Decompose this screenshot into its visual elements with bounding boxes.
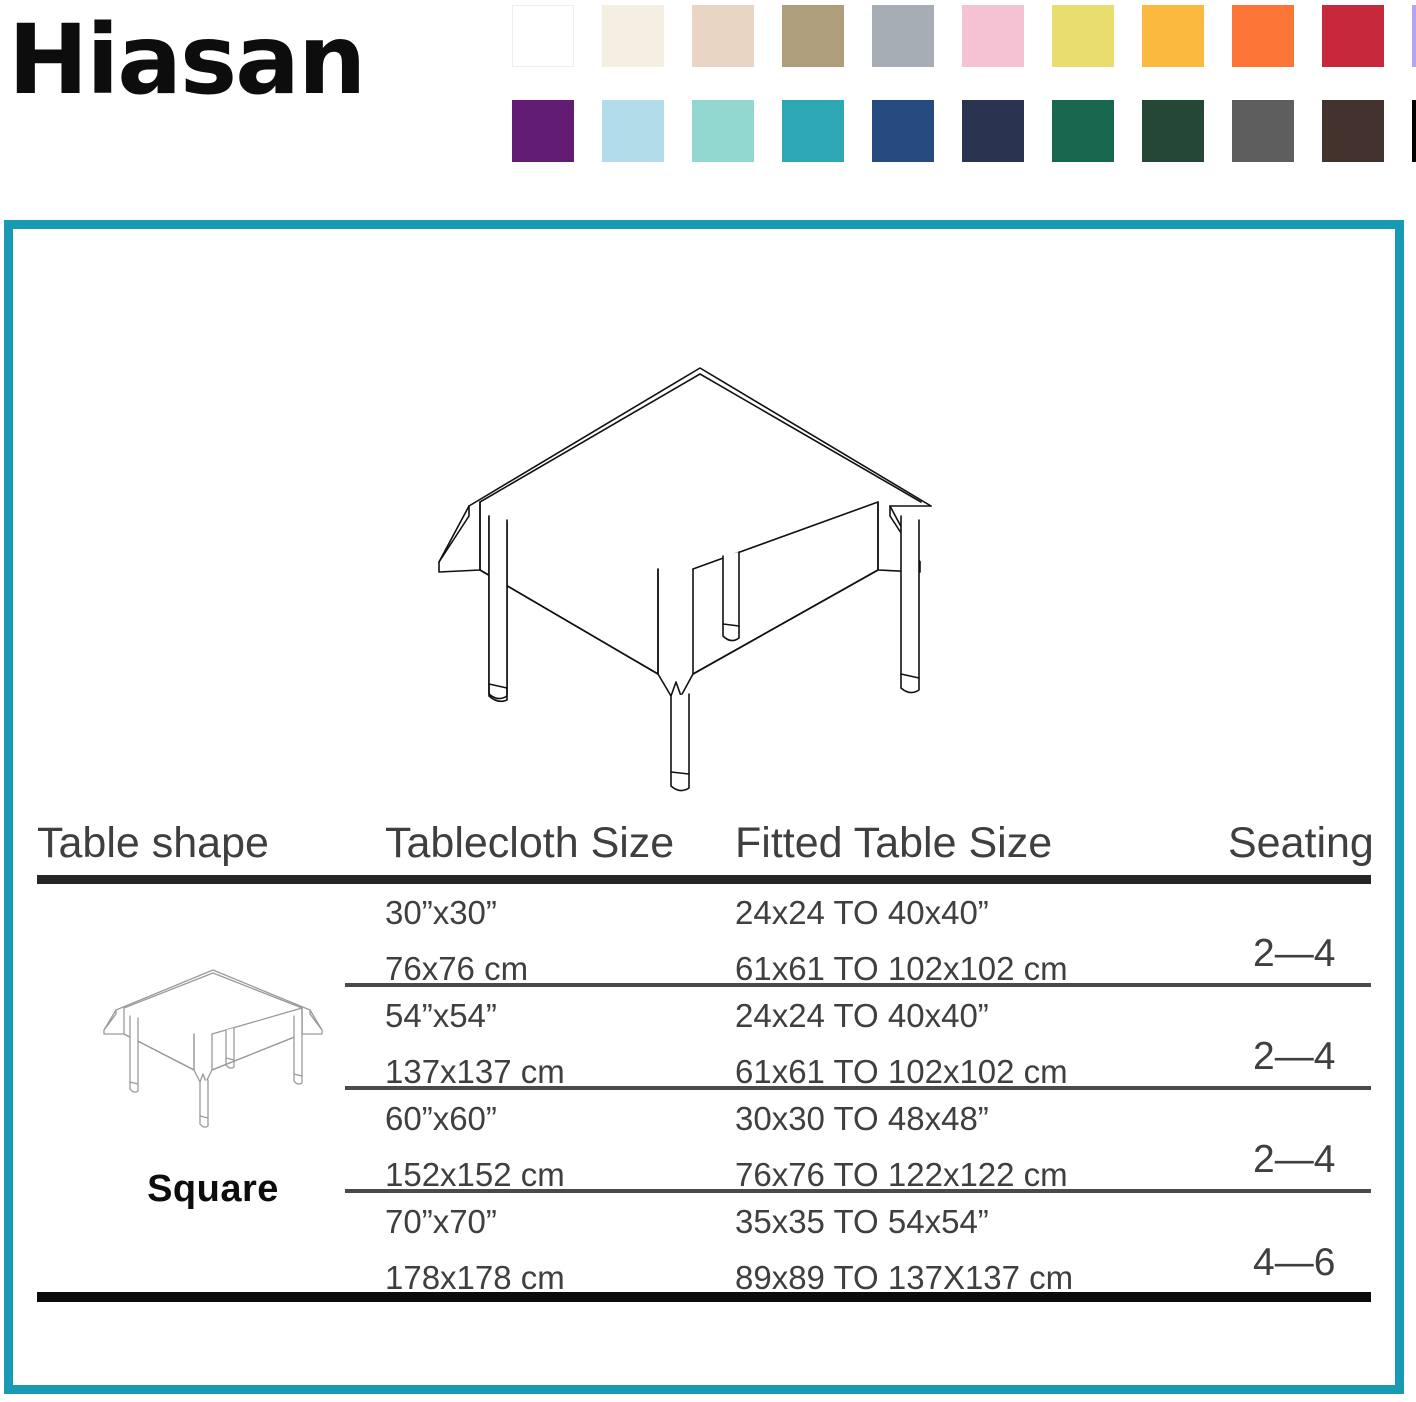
cell-tablecloth-size-inches: 70”x70”: [385, 1205, 497, 1238]
color-swatch-ivory[interactable]: [602, 5, 664, 67]
color-swatch-gold[interactable]: [1142, 5, 1204, 67]
table-row: 70”x70” 178x178 cm 35x35 TO 54x54” 89x89…: [13, 1193, 1395, 1292]
cell-tablecloth-size-inches: 30”x30”: [385, 896, 497, 929]
color-swatch-black[interactable]: [1412, 100, 1416, 162]
cell-fitted-size-inches: 35x35 TO 54x54”: [735, 1205, 989, 1238]
cell-fitted-size-inches: 24x24 TO 40x40”: [735, 896, 989, 929]
color-swatch-light-gray[interactable]: [872, 5, 934, 67]
size-spec-table: Table shape Tablecloth Size Fitted Table…: [13, 807, 1395, 1302]
table-row: 60”x60” 152x152 cm 30x30 TO 48x48” 76x76…: [13, 1090, 1395, 1189]
color-swatch-orange[interactable]: [1232, 5, 1294, 67]
column-header-tablecloth-size: Tablecloth Size: [385, 822, 674, 865]
cell-tablecloth-size-cm: 76x76 cm: [385, 952, 528, 985]
color-swatch-teal[interactable]: [782, 100, 844, 162]
brand-logo: Hiasan: [8, 12, 364, 108]
color-swatch-khaki[interactable]: [782, 5, 844, 67]
color-swatch-white[interactable]: [512, 5, 574, 67]
color-swatch-pink[interactable]: [962, 5, 1024, 67]
cell-seating: 2—4: [1253, 1140, 1335, 1179]
cell-tablecloth-size-cm: 137x137 cm: [385, 1055, 565, 1088]
column-header-seating: Seating: [1228, 822, 1374, 865]
color-swatch-dark-navy[interactable]: [962, 100, 1024, 162]
cell-tablecloth-size-inches: 54”x54”: [385, 999, 497, 1032]
table-bottom-rule: [37, 1292, 1371, 1302]
cell-fitted-size-inches: 24x24 TO 40x40”: [735, 999, 989, 1032]
color-swatch-dark-gray[interactable]: [1232, 100, 1294, 162]
square-table-illustration: [423, 344, 983, 794]
color-swatch-aqua[interactable]: [692, 100, 754, 162]
color-swatch-row-2: [512, 100, 1416, 162]
color-swatch-brown[interactable]: [1322, 100, 1384, 162]
color-swatch-purple[interactable]: [512, 100, 574, 162]
table-row: 54”x54” 137x137 cm 24x24 TO 40x40” 61x61…: [13, 987, 1395, 1086]
cell-fitted-size-cm: 61x61 TO 102x102 cm: [735, 1055, 1068, 1088]
table-body: Square 30”x30” 76x76 cm 24x24 TO 40x40” …: [13, 884, 1395, 1292]
cell-tablecloth-size-inches: 60”x60”: [385, 1102, 497, 1135]
table-row: 30”x30” 76x76 cm 24x24 TO 40x40” 61x61 T…: [13, 884, 1395, 983]
cell-fitted-size-inches: 30x30 TO 48x48”: [735, 1102, 989, 1135]
color-swatch-emerald[interactable]: [1052, 100, 1114, 162]
color-swatch-beige[interactable]: [692, 5, 754, 67]
color-swatch-lavender[interactable]: [1412, 5, 1416, 67]
column-header-table-shape: Table shape: [37, 822, 269, 865]
column-header-fitted-table-size: Fitted Table Size: [735, 822, 1052, 865]
cell-tablecloth-size-cm: 152x152 cm: [385, 1158, 565, 1191]
cell-seating: 2—4: [1253, 1037, 1335, 1076]
color-swatch-forest-green[interactable]: [1142, 100, 1204, 162]
color-swatch-yellow[interactable]: [1052, 5, 1114, 67]
color-swatch-navy-blue[interactable]: [872, 100, 934, 162]
color-swatch-baby-blue[interactable]: [602, 100, 664, 162]
color-swatch-row-1: [512, 5, 1416, 67]
cell-fitted-size-cm: 89x89 TO 137X137 cm: [735, 1261, 1073, 1294]
cell-fitted-size-cm: 76x76 TO 122x122 cm: [735, 1158, 1068, 1191]
cell-seating: 2—4: [1253, 934, 1335, 973]
size-guide-panel: Table shape Tablecloth Size Fitted Table…: [4, 220, 1404, 1394]
color-swatch-grid: [512, 5, 1416, 162]
cell-fitted-size-cm: 61x61 TO 102x102 cm: [735, 952, 1068, 985]
brand-and-color-strip: Hiasan: [0, 0, 1416, 196]
cell-seating: 4—6: [1253, 1243, 1335, 1282]
header-divider-rule: [37, 875, 1371, 884]
color-swatch-red[interactable]: [1322, 5, 1384, 67]
cell-tablecloth-size-cm: 178x178 cm: [385, 1261, 565, 1294]
table-header-row: Table shape Tablecloth Size Fitted Table…: [13, 807, 1395, 865]
